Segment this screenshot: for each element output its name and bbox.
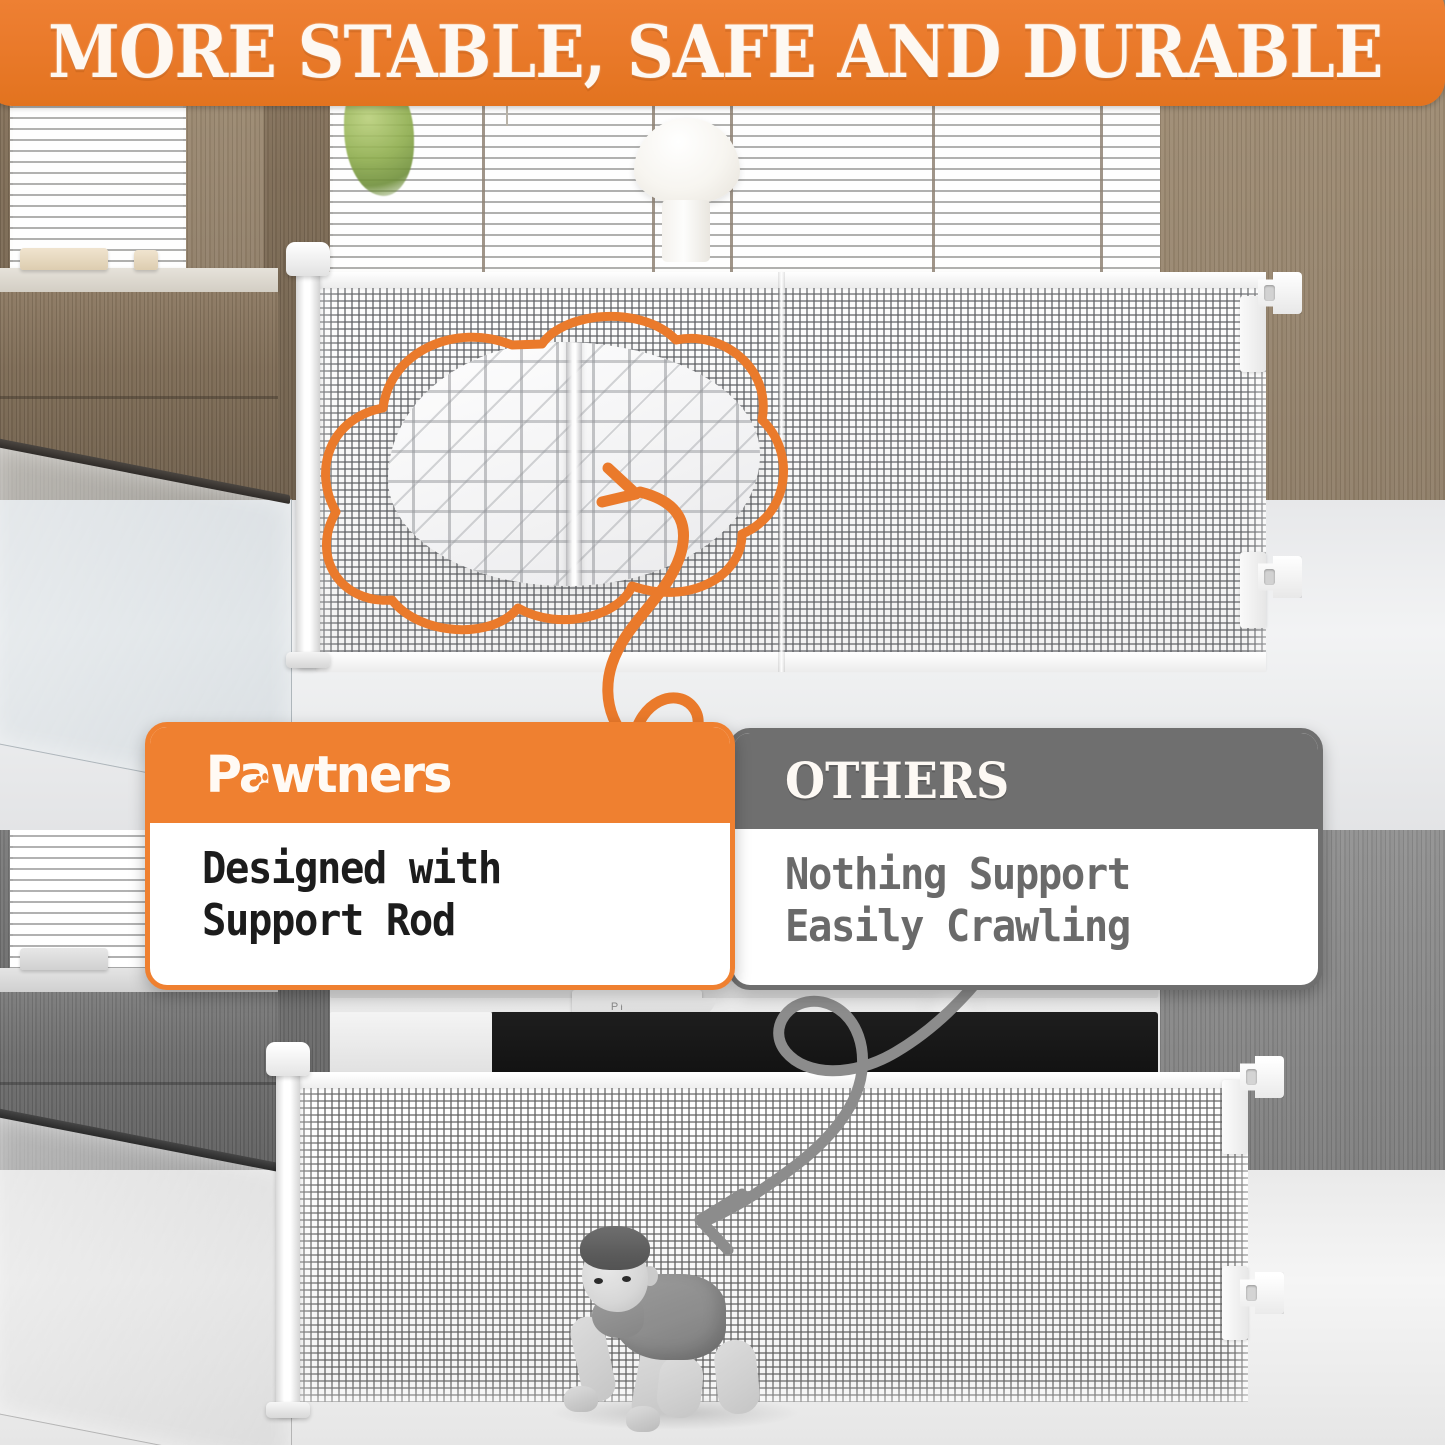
baby-eye-right xyxy=(622,1276,631,1282)
headline-banner: MORE STABLE, SAFE AND DURABLE xyxy=(0,0,1445,106)
card-others-body: Nothing Support Easily Crawling xyxy=(733,829,1318,953)
counter-groove xyxy=(0,1082,278,1085)
gate-post-left xyxy=(276,1066,300,1416)
card-others-feature: Nothing Support Easily Crawling xyxy=(785,849,1275,953)
card-others: OTHERS Nothing Support Easily Crawling xyxy=(728,728,1323,990)
gate-mount-tab-top xyxy=(1222,1080,1248,1154)
counter-decor xyxy=(20,948,108,970)
gate-mount-tab-top xyxy=(1240,296,1266,372)
card-others-header: OTHERS xyxy=(733,733,1318,829)
product-infographic: PHILOX xyxy=(0,0,1445,1445)
baby-eye-left xyxy=(594,1278,603,1284)
support-rod-zoom xyxy=(566,342,582,586)
gate-bottom-rail xyxy=(316,652,1266,672)
latch-slot xyxy=(1264,569,1275,585)
baby-crawling xyxy=(530,1220,830,1440)
card-pawtners: Pawtners Designed with Support Rod xyxy=(145,722,735,990)
baby-hand-right xyxy=(626,1406,660,1432)
card-others-title: OTHERS xyxy=(785,756,1009,806)
gate-post-foot xyxy=(266,1402,310,1418)
pawtners-logo: Pawtners xyxy=(206,750,451,801)
gate-top-rail xyxy=(296,1072,1248,1088)
latch-slot xyxy=(1246,1069,1257,1085)
pawtners-logo-text: Pawtners xyxy=(206,746,451,805)
gate-post-foot xyxy=(286,652,330,668)
counter-top xyxy=(0,268,278,292)
baby-hair xyxy=(580,1226,650,1270)
card-pawtners-header: Pawtners xyxy=(150,727,730,823)
card-pawtners-feature: Designed with Support Rod xyxy=(202,843,688,947)
counter-decor xyxy=(20,248,108,270)
gate-post-cap xyxy=(266,1042,310,1076)
headline-text: MORE STABLE, SAFE AND DURABLE xyxy=(48,2,1382,88)
card-pawtners-body: Designed with Support Rod xyxy=(150,823,730,947)
gate-support-rod xyxy=(778,272,785,672)
gate-post-left xyxy=(296,266,320,668)
pendant-lamp-base xyxy=(662,200,710,262)
counter-groove xyxy=(0,396,278,399)
latch-slot xyxy=(1246,1285,1257,1301)
magnifier-bubble-content xyxy=(388,342,760,586)
latch-slot xyxy=(1264,285,1275,301)
scene-pawtners-color xyxy=(0,0,1445,830)
baby-hand-left xyxy=(564,1386,598,1412)
counter-decor xyxy=(134,250,158,270)
paw-icon xyxy=(252,772,277,798)
gate-top-rail xyxy=(316,272,1266,288)
baby-leg-left xyxy=(712,1338,762,1416)
gate-post-cap xyxy=(286,242,330,276)
